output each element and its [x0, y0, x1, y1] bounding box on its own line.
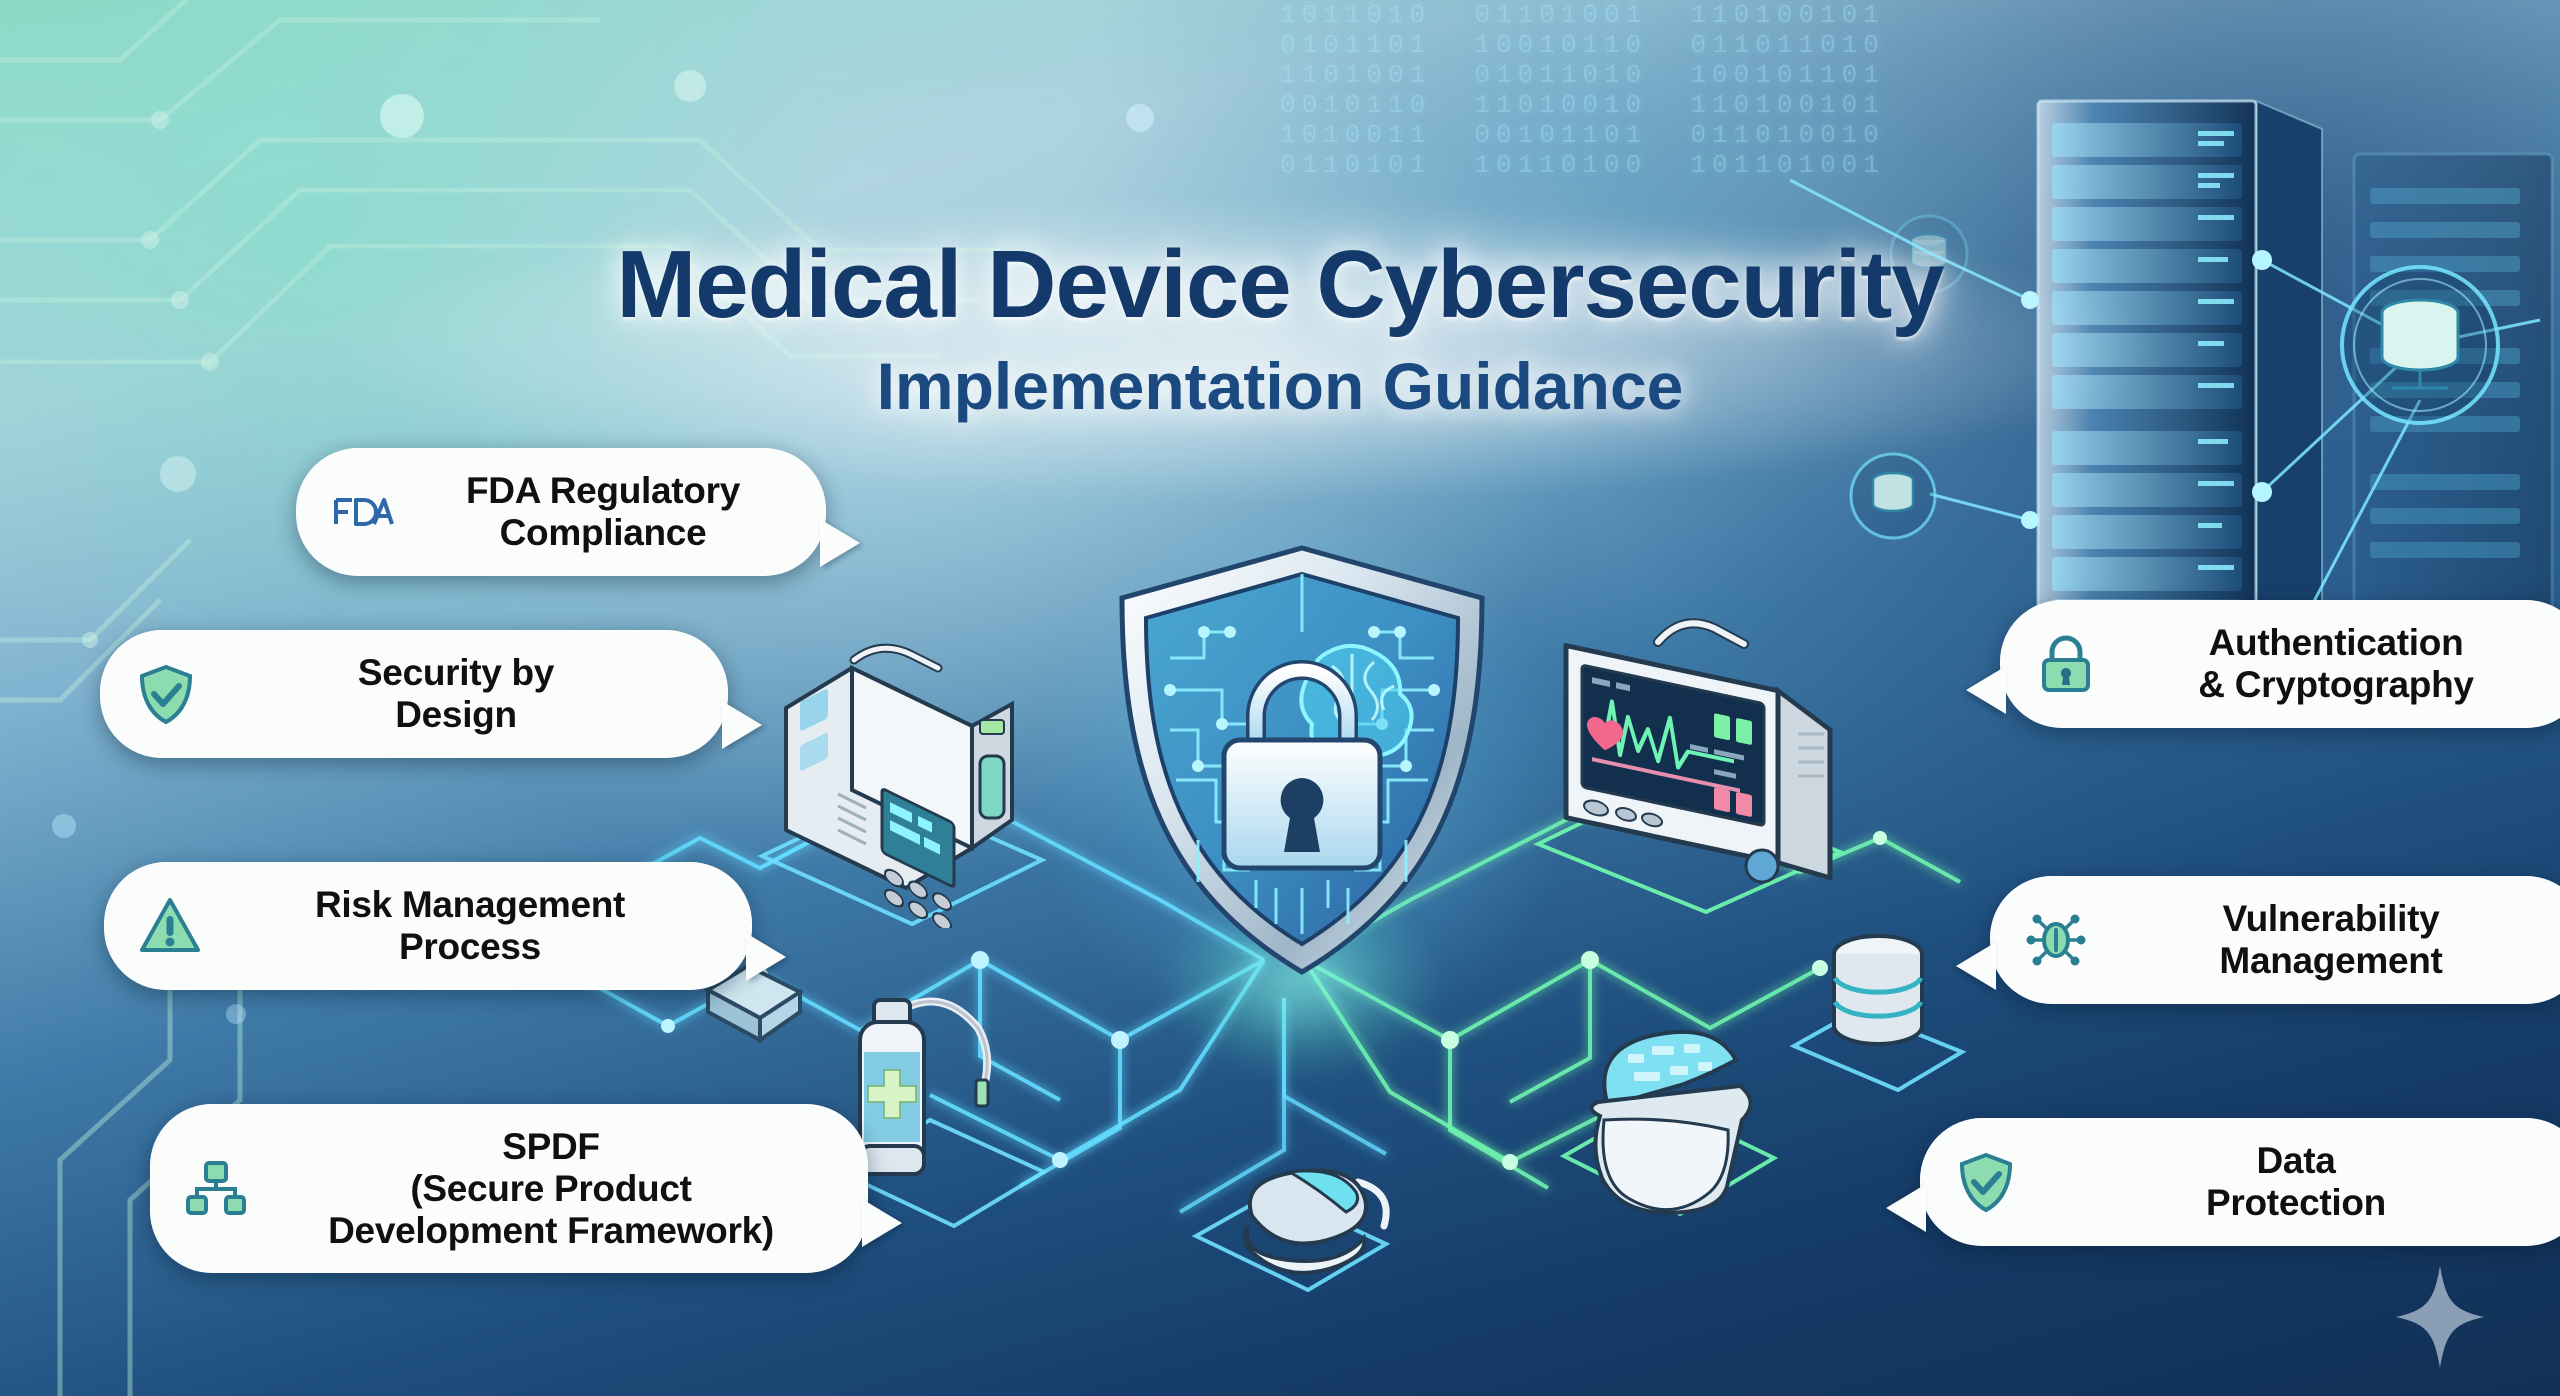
callout-line: FDA Regulatory: [414, 470, 792, 512]
header: Medical Device Cybersecurity Implementat…: [0, 236, 2560, 424]
callout-line: Development Framework): [268, 1210, 834, 1252]
callout-line: Protection: [2038, 1182, 2554, 1224]
callout-label: Security by Design: [218, 652, 694, 736]
device-patient-monitor: [1530, 594, 1910, 914]
device-computer-mouse: [1188, 1120, 1418, 1300]
callout-line: Security by: [218, 652, 694, 694]
page-title: Medical Device Cybersecurity: [0, 236, 2560, 334]
callout-authentication-cryptography[interactable]: Authentication & Cryptography: [2000, 600, 2560, 728]
device-database-cylinder: [1786, 920, 1976, 1120]
callout-line: Risk Management: [222, 884, 718, 926]
shield-check-icon: [134, 662, 198, 726]
warning-triangle-icon: [138, 894, 202, 958]
callout-line: Authentication: [2118, 622, 2554, 664]
callout-spdf[interactable]: SPDF (Secure Product Development Framewo…: [150, 1104, 868, 1273]
callout-line: Vulnerability: [2108, 898, 2554, 940]
callout-line: Design: [218, 694, 694, 736]
central-shield-icon: [1106, 540, 1498, 980]
database-node-icon: [1845, 448, 1941, 544]
callout-line: Management: [2108, 940, 2554, 982]
callout-fda-regulatory-compliance[interactable]: FDA Regulatory Compliance: [296, 448, 826, 576]
callout-line: SPDF: [268, 1126, 834, 1168]
callout-line: Data: [2038, 1140, 2554, 1182]
callout-data-protection[interactable]: Data Protection: [1920, 1118, 2560, 1246]
callout-line: Process: [222, 926, 718, 968]
callout-risk-management-process[interactable]: Risk Management Process: [104, 862, 752, 990]
padlock-icon: [2034, 632, 2098, 696]
sparkle-icon: [2392, 1262, 2488, 1372]
callout-security-by-design[interactable]: Security by Design: [100, 630, 728, 758]
callout-label: Data Protection: [2038, 1140, 2554, 1224]
callout-vulnerability-management[interactable]: Vulnerability Management: [1990, 876, 2560, 1004]
callout-label: Authentication & Cryptography: [2118, 622, 2554, 706]
callout-label: Risk Management Process: [222, 884, 718, 968]
page-subtitle: Implementation Guidance: [0, 348, 2560, 424]
bug-network-icon: [2024, 908, 2088, 972]
callout-label: FDA Regulatory Compliance: [414, 470, 792, 554]
callout-line: (Secure Product: [268, 1168, 834, 1210]
callout-line: & Cryptography: [2118, 664, 2554, 706]
hierarchy-icon: [184, 1157, 248, 1221]
shield-check-icon: [1954, 1150, 2018, 1214]
fda-logo-icon: [330, 480, 394, 544]
callout-label: Vulnerability Management: [2108, 898, 2554, 982]
callout-label: SPDF (Secure Product Development Framewo…: [268, 1126, 834, 1251]
callout-line: Compliance: [414, 512, 792, 554]
infographic-poster: 1011010 01101001 110100101 0101101 10010…: [0, 0, 2560, 1396]
device-infusion-pump: [742, 598, 1082, 928]
